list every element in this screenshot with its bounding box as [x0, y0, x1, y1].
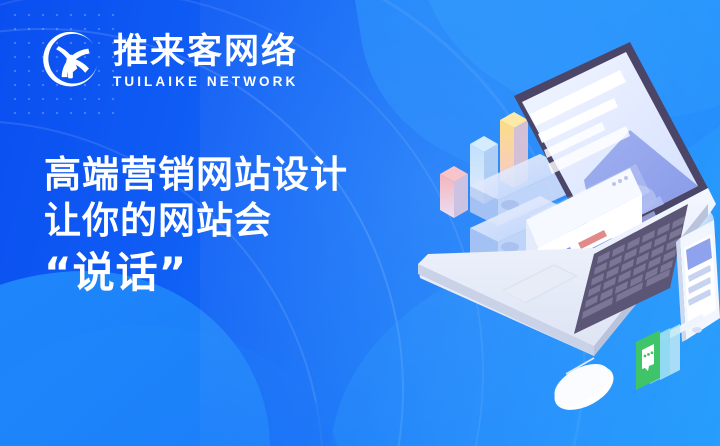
logo-text-block: 推来客网络 TUILAIKE NETWORK	[113, 30, 298, 90]
blob-bottom-left-back	[0, 326, 340, 446]
chat-icon	[636, 324, 680, 390]
logo-company-name-en: TUILAIKE NETWORK	[113, 74, 298, 90]
headline-line-3: “说话”	[44, 244, 348, 302]
headline-line-2: 让你的网站会	[44, 198, 348, 244]
headline-block: 高端营销网站设计 让你的网站会 “说话”	[44, 152, 348, 302]
tuilaike-k-monogram-icon	[40, 30, 102, 92]
logo-company-name-cn: 推来客网络	[113, 33, 298, 71]
brand-logo: 推来客网络 TUILAIKE NETWORK	[40, 30, 298, 92]
marketing-banner: 推来客网络 TUILAIKE NETWORK 高端营销网站设计 让你的网站会 “…	[0, 0, 720, 446]
mouse	[547, 356, 620, 419]
smartphone	[676, 220, 720, 342]
headline-line-1: 高端营销网站设计	[44, 152, 348, 198]
bar-chart-bar-1	[440, 166, 468, 218]
illustration-svg	[398, 58, 720, 446]
isometric-laptop-illustration	[398, 58, 720, 446]
